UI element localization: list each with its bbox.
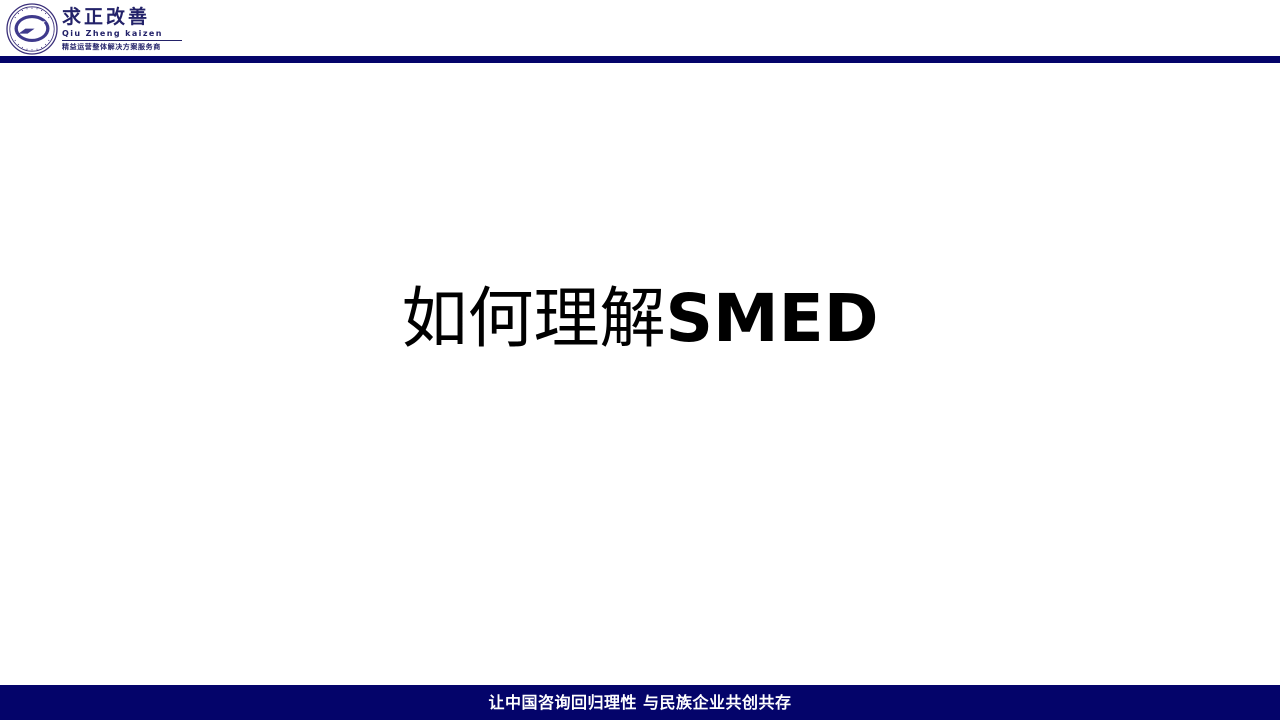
circular-seal-swoosh-logo: [6, 3, 58, 55]
brand-name-cn: 求正改善: [62, 7, 182, 28]
presentation-slide: 求正改善 Qiu Zheng kaizen 精益运营整体解决方案服务商 如何理解…: [0, 0, 1280, 720]
slide-body: 如何理解SMED: [0, 63, 1280, 685]
header-rule: [0, 56, 1280, 63]
page-title-cn: 如何理解: [401, 280, 665, 357]
brand-divider: [62, 40, 182, 41]
brand-logo[interactable]: 求正改善 Qiu Zheng kaizen 精益运营整体解决方案服务商: [6, 2, 182, 56]
footer-slogan: 让中国咨询回归理性 与民族企业共创共存: [488, 694, 791, 712]
page-title: 如何理解SMED: [0, 278, 1280, 359]
slide-header: 求正改善 Qiu Zheng kaizen 精益运营整体解决方案服务商: [0, 0, 1280, 56]
brand-text-block: 求正改善 Qiu Zheng kaizen 精益运营整体解决方案服务商: [62, 3, 182, 55]
brand-tagline: 精益运营整体解决方案服务商: [62, 43, 182, 52]
page-title-en: SMED: [665, 280, 878, 357]
brand-name-pinyin: Qiu Zheng kaizen: [62, 29, 182, 39]
slide-footer: 让中国咨询回归理性 与民族企业共创共存: [0, 685, 1280, 720]
